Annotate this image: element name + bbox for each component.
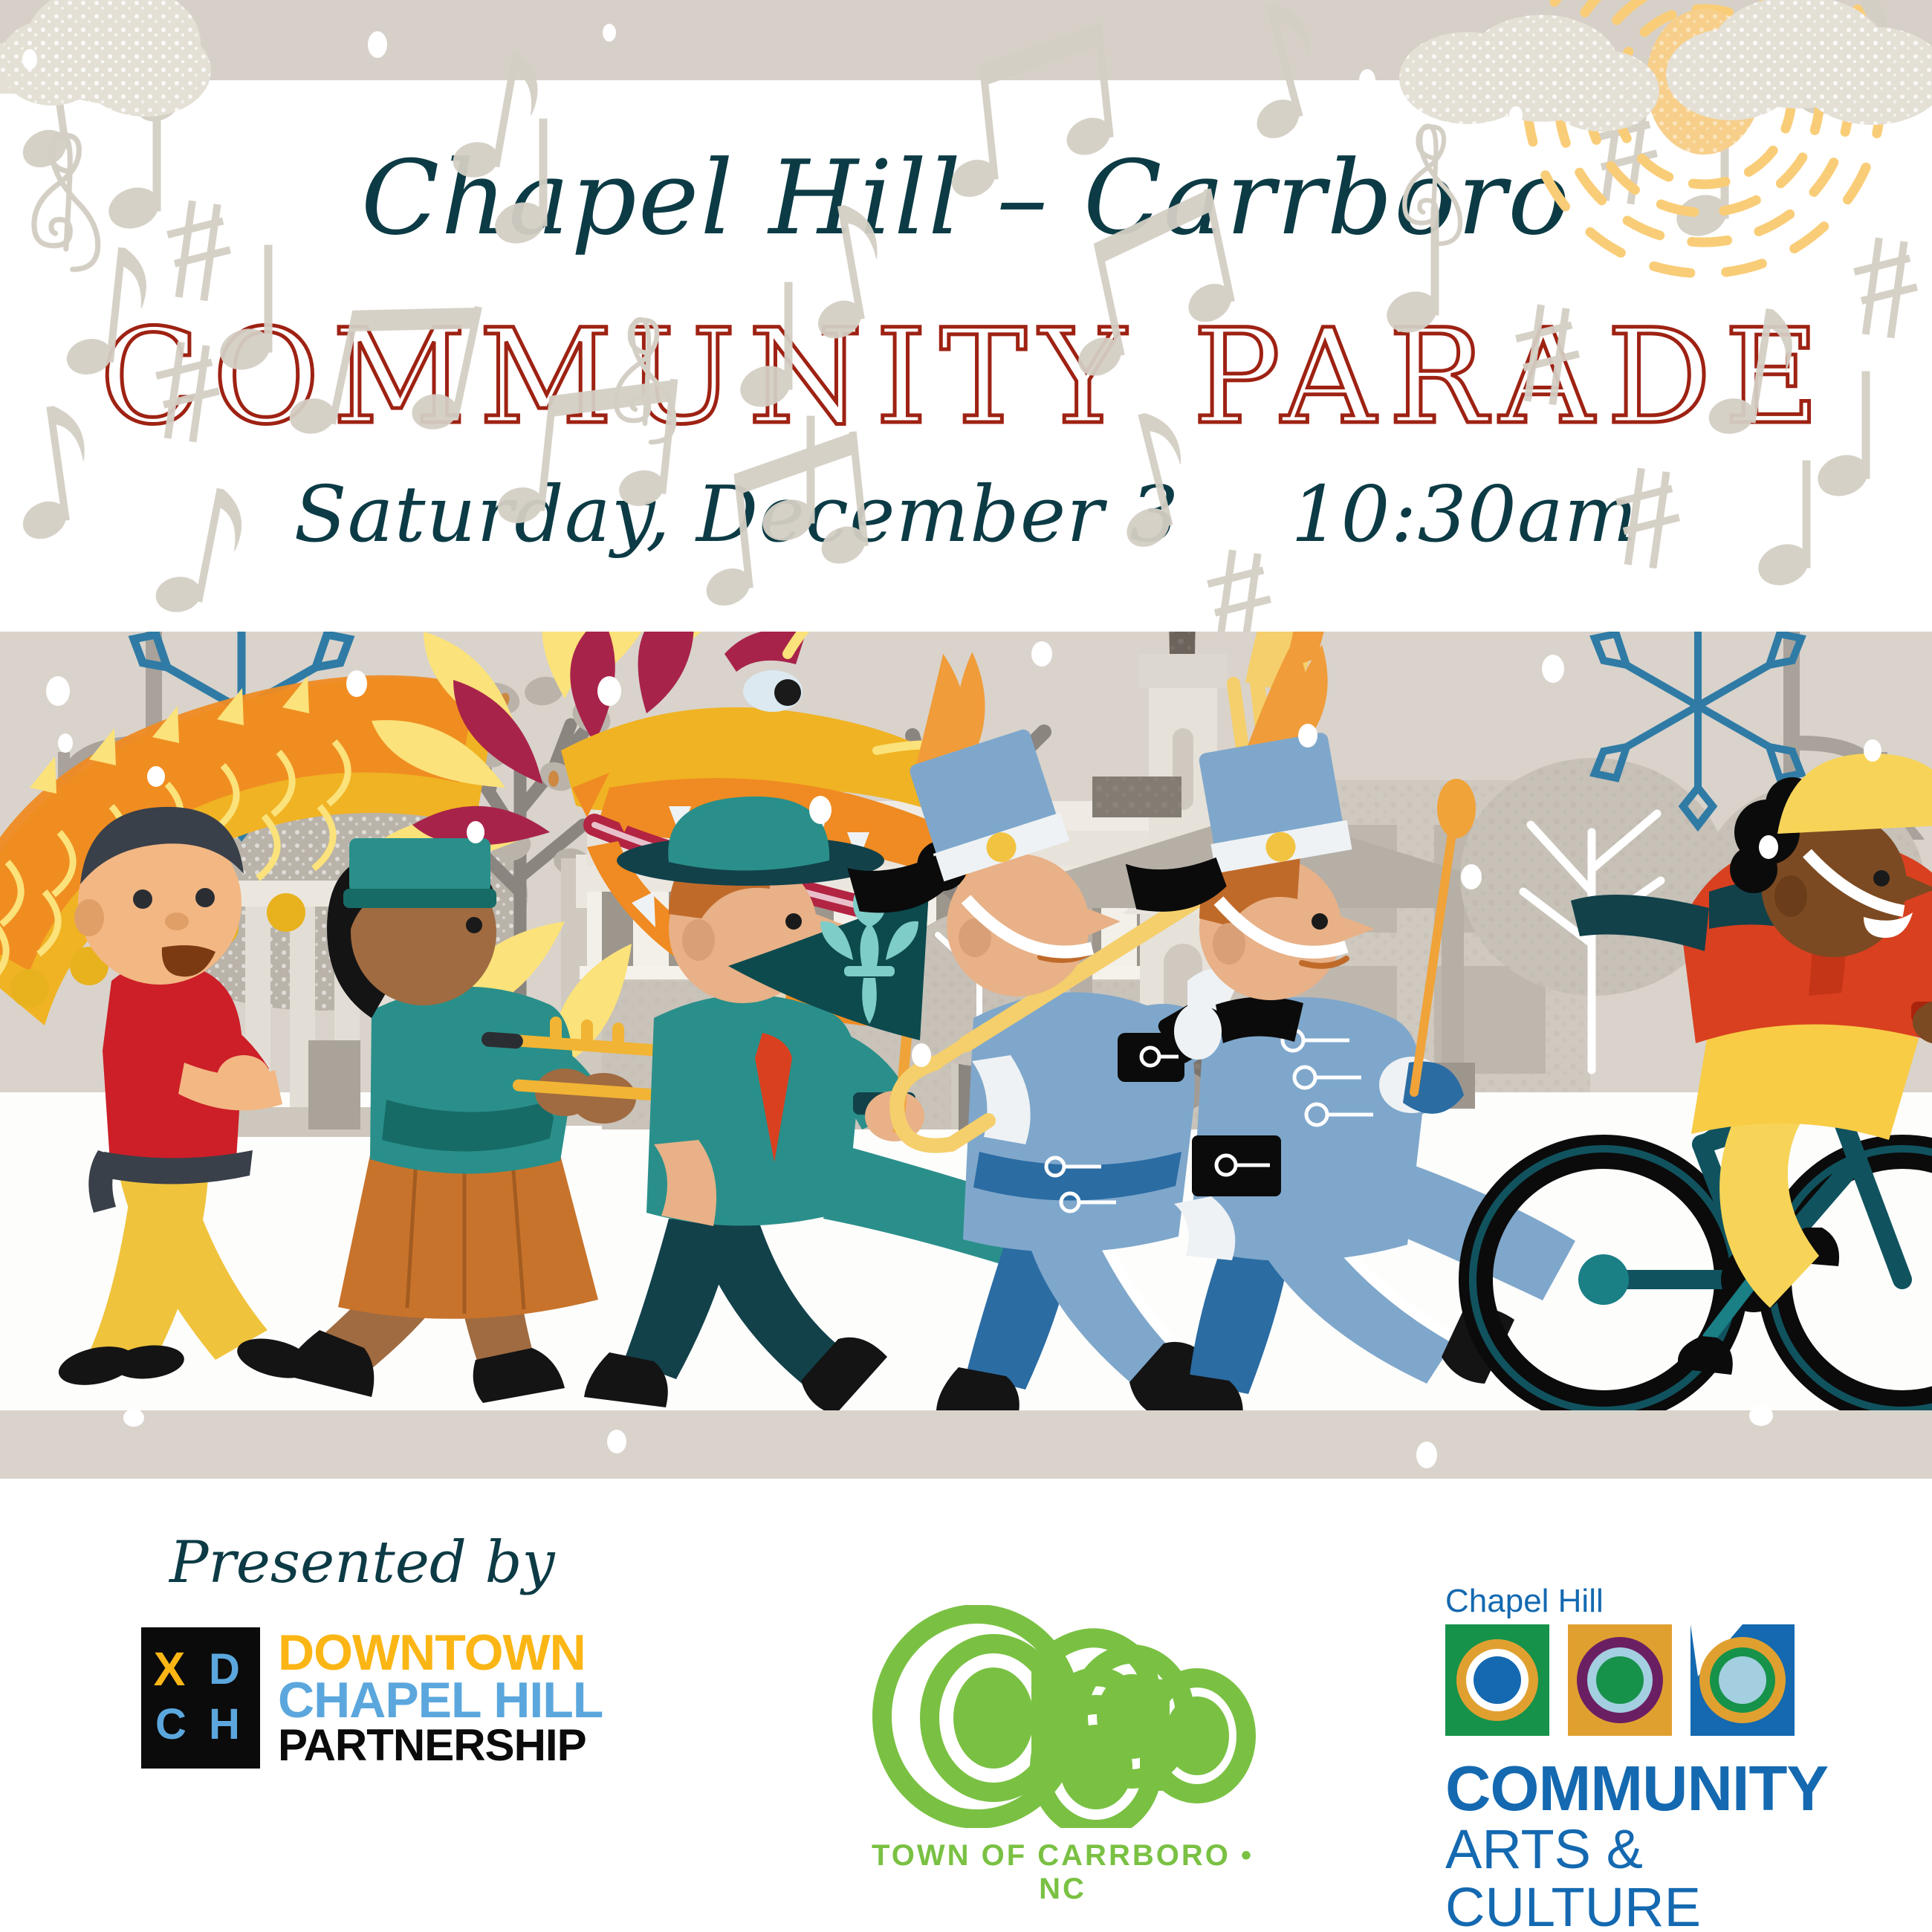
carrboro-caption: TOWN OF CARRBORO • NC — [866, 1839, 1260, 1906]
chcac-line-top: Chapel Hill — [1445, 1583, 1809, 1620]
snow-dots — [22, 24, 1523, 124]
dchp-mark-icon: X D C H — [141, 1627, 260, 1769]
svg-text:H: H — [209, 1700, 240, 1748]
dchp-wordmark: DOWNTOWN CHAPEL HILL PARTNERSHIP — [278, 1630, 603, 1766]
street-scene — [0, 208, 1932, 1428]
chcac-line-bottom: ARTS & CULTURE — [1445, 1821, 1809, 1932]
snow-dots-lower — [123, 1405, 1773, 1468]
chcac-line-mid: COMMUNITY — [1445, 1757, 1809, 1821]
sponsor-logo-downtown-chapel-hill-partnership[interactable]: X D C H DOWNTOWN CHAPEL HILL PARTNERSHIP — [141, 1627, 603, 1769]
chcac-squares-icon — [1445, 1624, 1795, 1743]
dchp-line-2: CHAPEL HILL — [278, 1677, 603, 1725]
carrboro-wordmark-icon — [866, 1605, 1260, 1828]
presented-by-label: Presented by — [169, 1529, 555, 1596]
sponsor-logo-chapel-hill-community-arts-culture[interactable]: Chapel Hill COMMUNITY ARTS & CULTURE — [1445, 1583, 1809, 1932]
cloud-top-right-a — [1399, 15, 1659, 132]
dchp-line-3: PARTNERSHIP — [278, 1725, 603, 1766]
svg-text:X: X — [154, 1642, 186, 1696]
dchp-line-1: DOWNTOWN — [278, 1630, 603, 1677]
sponsor-logo-town-of-carrboro[interactable]: TOWN OF CARRBORO • NC — [866, 1605, 1260, 1906]
svg-text:C: C — [155, 1700, 187, 1748]
svg-text:D: D — [209, 1645, 240, 1693]
parade-poster: Chapel Hill – Carrboro COMMUNITY PARADE … — [0, 0, 1932, 1932]
sky-group — [0, 0, 1932, 273]
